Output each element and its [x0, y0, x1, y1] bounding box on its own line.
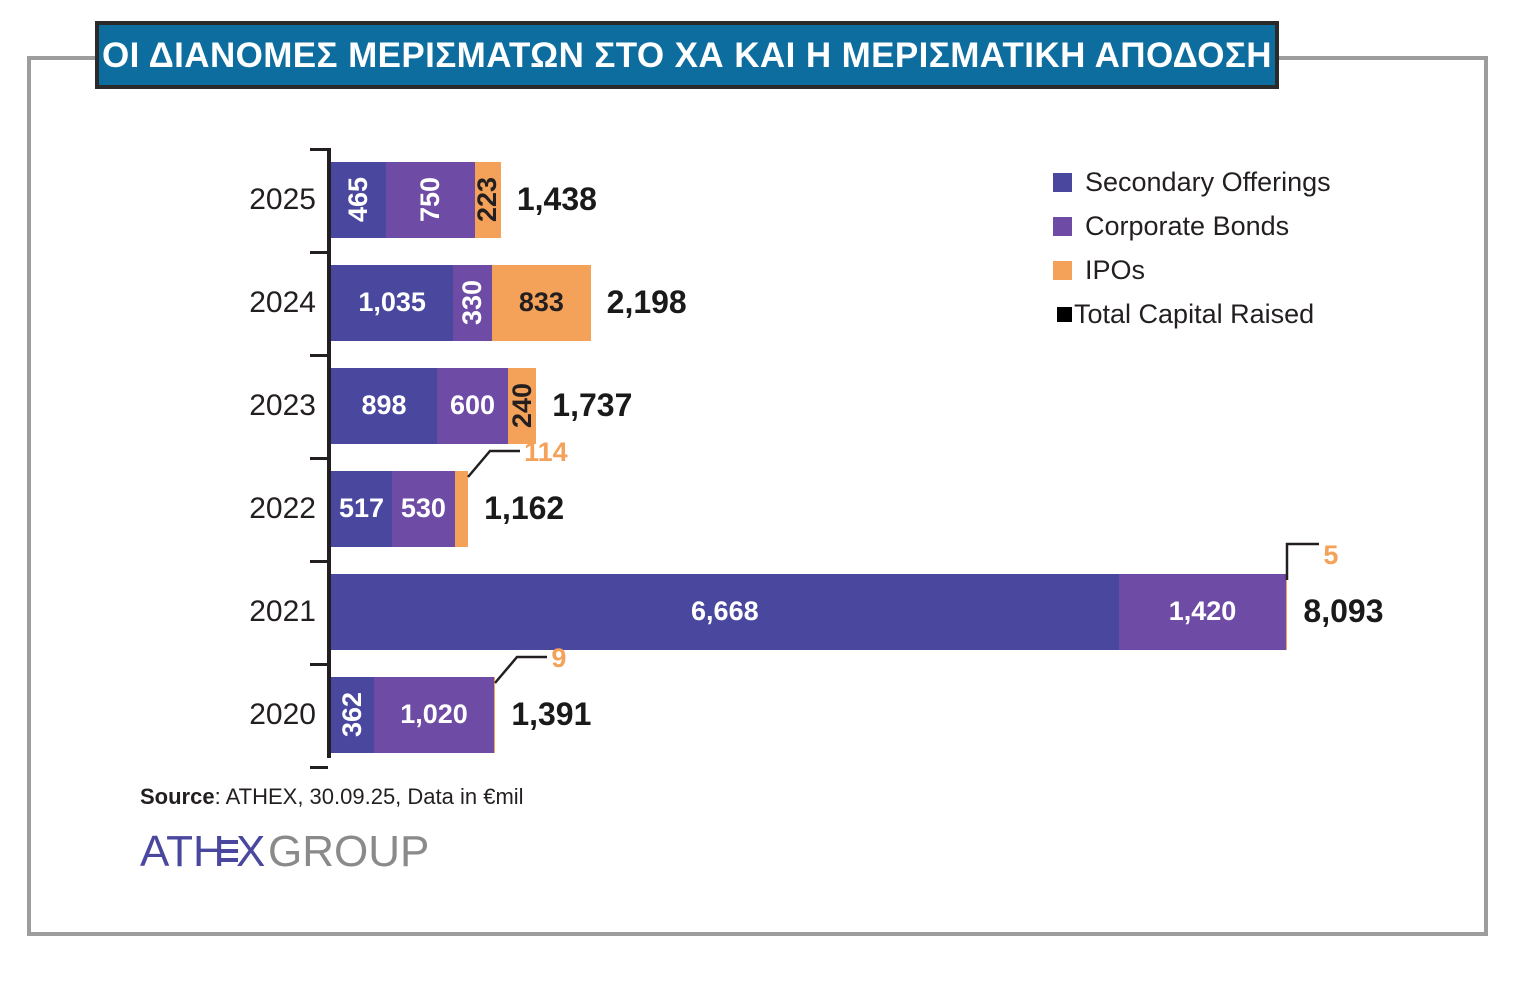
callout-value-2021: 5 — [1323, 542, 1338, 569]
bar-segment-2024-secondary[interactable]: 1,035 — [331, 265, 453, 341]
svg-text:X: X — [236, 828, 265, 876]
bar-segment-2025-secondary[interactable]: 465 — [331, 162, 386, 238]
axis-tick — [310, 560, 328, 563]
svg-text:ATH: ATH — [140, 828, 225, 876]
category-label-2024: 2024 — [238, 288, 316, 318]
legend-swatch-icon — [1053, 261, 1072, 280]
callout-value-2022: 114 — [524, 439, 568, 466]
bar-segment-2022-bonds[interactable]: 530 — [392, 471, 455, 547]
source-prefix: Source — [140, 784, 215, 809]
legend-item-label: Secondary Offerings — [1085, 169, 1331, 196]
bar-total-2025: 1,438 — [517, 183, 597, 215]
stacked-bar-2021[interactable]: 6,6681,420 — [331, 574, 1287, 650]
callout-leader-line — [1283, 536, 1353, 582]
axis-tick — [310, 148, 328, 151]
stacked-bar-2020[interactable]: 3621,020 — [331, 677, 495, 753]
legend-item-label: Corporate Bonds — [1085, 213, 1289, 240]
bar-total-2023: 1,737 — [552, 389, 632, 421]
bar-segment-2021-bonds[interactable]: 1,420 — [1119, 574, 1287, 650]
bar-total-2020: 1,391 — [511, 698, 591, 730]
category-axis-line — [327, 148, 331, 758]
bar-total-2024: 2,198 — [607, 286, 687, 318]
bar-segment-value: 750 — [417, 177, 444, 222]
bar-total-2021: 8,093 — [1303, 595, 1383, 627]
source-text: : ATHEX, 30.09.25, Data in €mil — [215, 784, 524, 809]
bar-segment-value: 465 — [345, 177, 372, 222]
athex-group-logo: ATH X GROUP — [140, 828, 440, 876]
stacked-bar-2024[interactable]: 1,035330833 — [331, 265, 591, 341]
legend-swatch-icon — [1057, 307, 1072, 322]
axis-tick — [310, 766, 328, 769]
axis-tick — [310, 354, 328, 357]
bar-segment-value: 1,020 — [400, 701, 468, 728]
legend-item-0[interactable]: Secondary Offerings — [1053, 160, 1331, 204]
legend-item-3[interactable]: Total Capital Raised — [1053, 292, 1331, 336]
category-label-2020: 2020 — [238, 700, 316, 730]
bar-segment-value: 1,035 — [358, 289, 426, 316]
stacked-bar-2025[interactable]: 465750223 — [331, 162, 501, 238]
bar-segment-2021-secondary[interactable]: 6,668 — [331, 574, 1119, 650]
bar-segment-value: 1,420 — [1169, 598, 1237, 625]
bar-segment-2020-secondary[interactable]: 362 — [331, 677, 374, 753]
legend-item-2[interactable]: IPOs — [1053, 248, 1331, 292]
category-label-2021: 2021 — [238, 597, 316, 627]
stacked-bar-2022[interactable]: 517530 — [331, 471, 468, 547]
category-label-2022: 2022 — [238, 494, 316, 524]
bar-segment-2020-bonds[interactable]: 1,020 — [374, 677, 494, 753]
bar-segment-2022-secondary[interactable]: 517 — [331, 471, 392, 547]
bar-segment-value: 6,668 — [691, 598, 759, 625]
legend-item-1[interactable]: Corporate Bonds — [1053, 204, 1331, 248]
bar-segment-value: 240 — [509, 383, 536, 428]
bar-segment-2025-bonds[interactable]: 750 — [386, 162, 475, 238]
source-note: Source: ATHEX, 30.09.25, Data in €mil — [140, 786, 524, 808]
category-label-2023: 2023 — [238, 391, 316, 421]
legend-item-label: Total Capital Raised — [1074, 301, 1314, 328]
bar-segment-2021-ipos[interactable] — [1286, 574, 1287, 650]
bar-segment-2024-bonds[interactable]: 330 — [453, 265, 492, 341]
category-label-2025: 2025 — [238, 185, 316, 215]
bar-segment-value: 833 — [519, 289, 564, 316]
bar-segment-value: 898 — [362, 392, 407, 419]
title-banner: ΟΙ ΔΙΑΝΟΜΕΣ ΜΕΡΙΣΜΑΤΩΝ ΣΤΟ ΧΑ ΚΑΙ Η ΜΕΡΙ… — [95, 21, 1279, 89]
bar-segment-2020-ipos[interactable] — [494, 677, 495, 753]
page-title: ΟΙ ΔΙΑΝΟΜΕΣ ΜΕΡΙΣΜΑΤΩΝ ΣΤΟ ΧΑ ΚΑΙ Η ΜΕΡΙ… — [102, 38, 1272, 73]
chart-legend: Secondary OfferingsCorporate BondsIPOsTo… — [1053, 160, 1331, 336]
bar-segment-value: 530 — [401, 495, 446, 522]
bar-segment-2025-ipos[interactable]: 223 — [475, 162, 501, 238]
legend-swatch-icon — [1053, 217, 1072, 236]
legend-swatch-icon — [1053, 173, 1072, 192]
bar-segment-2024-ipos[interactable]: 833 — [492, 265, 590, 341]
callout-value-2020: 9 — [551, 645, 566, 672]
bar-segment-value: 223 — [474, 177, 501, 222]
svg-text:GROUP: GROUP — [268, 828, 429, 876]
axis-tick — [310, 251, 328, 254]
legend-item-label: IPOs — [1085, 257, 1145, 284]
bar-segment-value: 330 — [459, 280, 486, 325]
bar-segment-value: 517 — [339, 495, 384, 522]
bar-total-2022: 1,162 — [484, 492, 564, 524]
bar-segment-2022-ipos[interactable] — [455, 471, 468, 547]
bar-segment-value: 362 — [339, 692, 366, 737]
axis-tick — [310, 663, 328, 666]
axis-tick — [310, 457, 328, 460]
bar-segment-value: 600 — [450, 392, 495, 419]
bar-segment-2023-secondary[interactable]: 898 — [331, 368, 437, 444]
